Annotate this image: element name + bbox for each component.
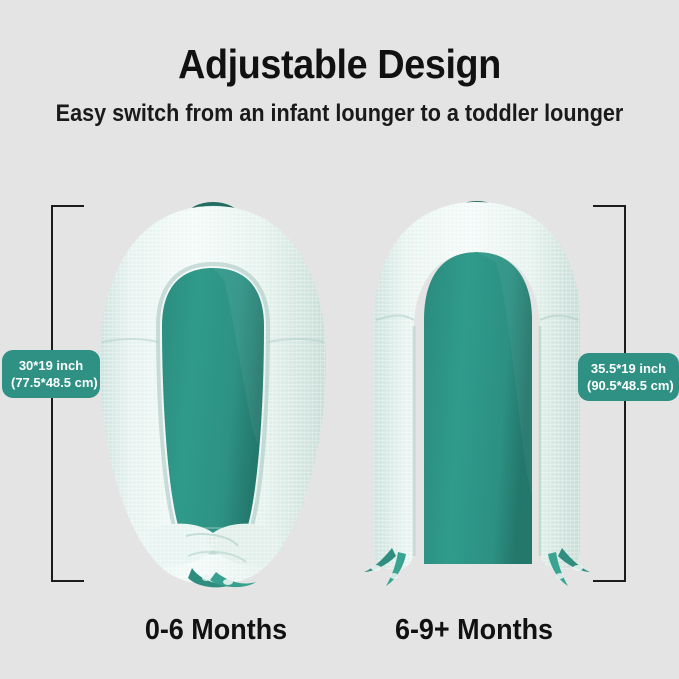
- size-badge-left-cm: (77.5*48.5 cm): [11, 374, 91, 391]
- size-badge-right: 35.5*19 inch (90.5*48.5 cm): [578, 353, 679, 401]
- size-badge-right-inch: 35.5*19 inch: [587, 360, 670, 377]
- caption-toddler-age-range: 6-9+ Months: [355, 612, 593, 648]
- bracket-tick-bottom-left: [52, 580, 84, 582]
- page-subtitle: Easy switch from an infant lounger to a …: [34, 99, 645, 129]
- bracket-tick-top-left: [52, 205, 84, 207]
- lounger-mattress-right: [424, 252, 532, 564]
- product-image-infant-lounger: [88, 196, 338, 596]
- page-title: Adjustable Design: [27, 40, 652, 88]
- size-badge-left: 30*19 inch (77.5*48.5 cm): [2, 350, 100, 398]
- size-badge-left-inch: 30*19 inch: [11, 357, 91, 374]
- bracket-tick-bottom-right: [593, 580, 625, 582]
- product-image-toddler-lounger: [362, 196, 592, 596]
- caption-infant-age-range: 0-6 Months: [97, 612, 335, 648]
- bracket-tick-top-right: [593, 205, 625, 207]
- lounger-mattress-left: [162, 268, 264, 549]
- size-badge-right-cm: (90.5*48.5 cm): [587, 377, 670, 394]
- adjustable-design-infographic: Adjustable Design Easy switch from an in…: [0, 0, 679, 679]
